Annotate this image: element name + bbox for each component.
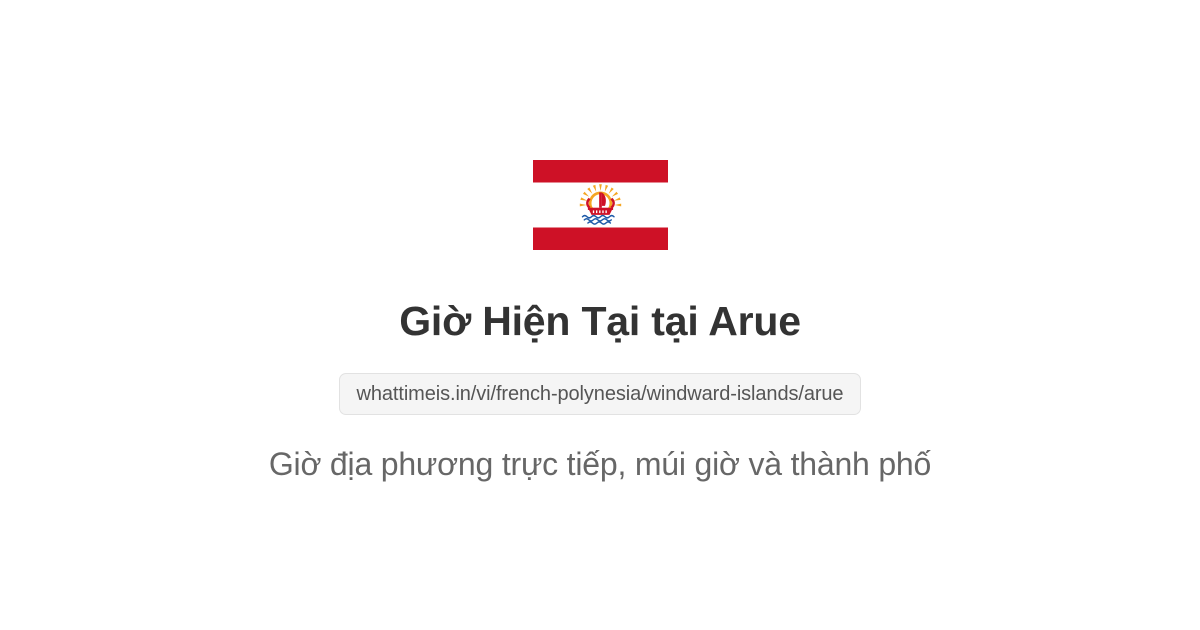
open-graph-card: Giờ Hiện Tại tại Arue whattimeis.in/vi/f… <box>0 0 1200 630</box>
page-subtitle: Giờ địa phương trực tiếp, múi giờ và thà… <box>269 445 931 483</box>
french-polynesia-flag-icon <box>533 160 668 250</box>
page-title: Giờ Hiện Tại tại Arue <box>399 298 801 345</box>
french-polynesia-flag <box>533 160 668 250</box>
url-badge: whattimeis.in/vi/french-polynesia/windwa… <box>339 373 862 415</box>
